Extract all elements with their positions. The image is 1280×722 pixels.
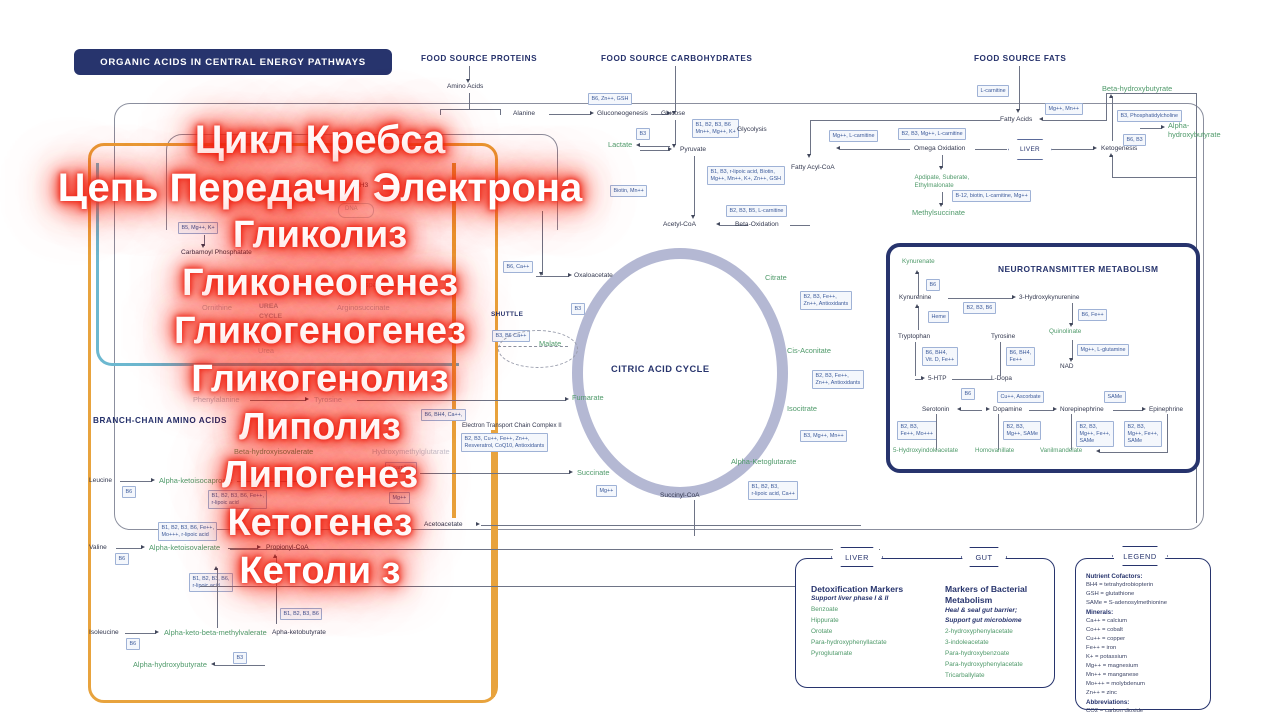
line-hk-quin bbox=[1072, 303, 1073, 325]
node-fatty-acids: Fatty Acids bbox=[1000, 116, 1032, 123]
line-fa-up bbox=[1106, 93, 1107, 121]
cofactor-5htp-b6: B6 bbox=[961, 388, 975, 400]
arrow-to-succinate bbox=[569, 470, 573, 474]
arrow-quin-nad bbox=[1069, 358, 1073, 362]
legend-group-1-header: Minerals: bbox=[1086, 609, 1113, 616]
line-norepi-epi bbox=[1113, 410, 1143, 411]
node-alpha-hydroxybutyrate-bcaa: Alpha-hydroxybutyrate bbox=[133, 661, 207, 669]
node-valine: Valine bbox=[89, 544, 107, 551]
node-ornithine: Ornithine bbox=[202, 304, 232, 312]
arrow-norepi-epi bbox=[1142, 407, 1146, 411]
cofactor-ketobutyrate: B1, B2, B3, B6 bbox=[280, 608, 322, 620]
line-serotonin-down bbox=[936, 414, 937, 450]
legend-g1-item-5: Mg++ = magnesium bbox=[1086, 663, 1138, 669]
node-epinephrine: Epinephrine bbox=[1149, 406, 1183, 413]
cofactor-quin-nad: Mg++, L-glutamine bbox=[1077, 344, 1129, 356]
line-tyr-ldopa bbox=[1000, 342, 1001, 376]
bacterial-item-2: Para-hydroxybenzoate bbox=[945, 650, 1009, 657]
cofactor-iso-product: B1, B2, B3, B6, r-lipoic acid bbox=[189, 573, 233, 592]
cofactor-kyn-hk: B2, B3, B6 bbox=[963, 302, 996, 314]
node-leucine: Leucine bbox=[89, 477, 112, 484]
legend-g1-item-6: Mn++ = manganese bbox=[1086, 672, 1139, 678]
node-urea: Urea bbox=[258, 347, 274, 355]
arrow-isoleucine bbox=[155, 630, 159, 634]
arrow-line-proteins bbox=[469, 66, 470, 80]
cofactor-pyruvate: B1, B3, r-lipoic acid, Biotin, Mg++, Mn+… bbox=[707, 166, 785, 185]
arrow-carbamoyl-down bbox=[201, 244, 205, 248]
label-urea-cycle-1: UREA bbox=[259, 303, 278, 310]
cofactor-epi-down: B2, B3, Mg++, Fe++, SAMe bbox=[1124, 421, 1162, 447]
arrow-kyn-hk bbox=[1012, 295, 1016, 299]
node-nh3: NH3 bbox=[355, 182, 368, 189]
detox-item-4: Pyroglutamate bbox=[811, 650, 852, 657]
arrow-leucine bbox=[151, 478, 155, 482]
line-acetoacetate-right bbox=[481, 525, 861, 526]
node-carbamoyl-phosphate: Carbamoyl Phosphatate bbox=[181, 249, 252, 256]
node-alanine: Alanine bbox=[513, 110, 535, 117]
legend-g0-item-1: GSH = glutathione bbox=[1086, 591, 1134, 597]
detox-item-2: Orotate bbox=[811, 628, 832, 635]
line-pyr-acetylcoa bbox=[694, 156, 695, 216]
cofactor-serotonin-down: B2, B3, Fe++, Mo+++ bbox=[897, 421, 937, 440]
node-alpha-keto-beta-methylvalerate: Alpha-keto-beta-methylvalerate bbox=[164, 629, 267, 637]
node-adipate-suberate: Apdipate, Suberate, Ethylmalonate bbox=[912, 172, 972, 191]
legend-g1-item-4: K+ = potassium bbox=[1086, 654, 1127, 660]
line-phe-tyr bbox=[250, 400, 306, 401]
header-food-source-proteins: FOOD SOURCE PROTEINS bbox=[421, 55, 537, 64]
node-isoleucine: Isoleucine bbox=[89, 629, 119, 636]
arrow-epi-vanil bbox=[1096, 449, 1100, 453]
line-aa-right bbox=[500, 109, 501, 115]
node-nad: NAD bbox=[1060, 363, 1074, 370]
arrow-line-fats bbox=[1019, 66, 1020, 110]
line-iso-up bbox=[217, 568, 218, 628]
cofactor-dopamine-down: B2, B3, Mg++, SAMe bbox=[1003, 421, 1041, 440]
cofactor-biotin: Biotin, Mn++ bbox=[610, 185, 647, 197]
bacterial-title-2: Metabolism bbox=[945, 595, 992, 605]
line-hydroxybutyrate bbox=[215, 665, 265, 666]
node-quinolinate: Quinolinate bbox=[1049, 329, 1081, 336]
node-amino-acids: Amino Acids bbox=[447, 83, 483, 90]
arrow-lactate bbox=[636, 143, 640, 147]
cofactor-same: SAMe bbox=[1104, 391, 1126, 403]
node-serotonin: Serotonin bbox=[922, 406, 949, 413]
arrow-keto-from-below bbox=[1109, 153, 1113, 157]
line-aa-down bbox=[469, 93, 470, 109]
arrow-kyn-kynurenate bbox=[915, 270, 919, 274]
bacterial-item-0: 2-hydroxyphenylacetate bbox=[945, 628, 1013, 635]
line-aa-left bbox=[440, 109, 441, 115]
arrow-omega-left bbox=[836, 146, 840, 150]
node-oxaloacetate: Oxaloacetate bbox=[574, 272, 613, 279]
cofactor-norepi-down: B2, B3, Mg++, Fe++, SAMe bbox=[1076, 421, 1114, 447]
bacterial-item-1: 3-indoleacetate bbox=[945, 639, 989, 646]
node-citrate: Citrate bbox=[765, 274, 787, 282]
arrow-valine bbox=[141, 545, 145, 549]
cofactor-oaa-in: B6, Ca++ bbox=[503, 261, 533, 273]
detox-item-0: Benzoate bbox=[811, 606, 838, 613]
bacterial-subtitle-1: Heal & seal gut barrier; bbox=[945, 607, 1017, 614]
node-kynurenine: Kynurenine bbox=[899, 294, 931, 301]
line-alanine-gng bbox=[549, 114, 591, 115]
line-keto-bottom bbox=[1112, 177, 1196, 178]
node-asparagine: Asparagine bbox=[360, 281, 397, 289]
line-to-serotonin bbox=[960, 410, 982, 411]
line-dopamine-down bbox=[998, 414, 999, 450]
arrow-acetoacetate bbox=[476, 522, 480, 526]
page-title: ORGANIC ACIDS IN CENTRAL ENERGY PATHWAYS bbox=[74, 49, 392, 75]
cofactor-omega: B2, B3, Mg++, L-carnitine bbox=[898, 128, 966, 140]
line-kyn-kynurenate bbox=[918, 272, 919, 296]
arrow-keto-ahb bbox=[1161, 125, 1165, 129]
legend-g1-item-1: Co++ = cobalt bbox=[1086, 627, 1123, 633]
line-bottom-long bbox=[230, 549, 880, 550]
node-ketogenesis: Ketogenesis bbox=[1101, 145, 1137, 152]
legend-g1-item-2: Cu++ = copper bbox=[1086, 636, 1125, 642]
node-tryptophan: Tryptophan bbox=[898, 333, 930, 340]
line-ketobutyrate-up bbox=[276, 556, 277, 624]
arrow-head-fats bbox=[1016, 109, 1020, 113]
node-acetoacetate: Acetoacetate bbox=[424, 521, 463, 528]
line-fa-top bbox=[1106, 93, 1196, 94]
line-ketoisocaproate bbox=[237, 481, 315, 482]
gut-tab-label-2: GUT bbox=[975, 553, 992, 562]
line-dop-norepi bbox=[1029, 410, 1054, 411]
node-tyrosine: Tyrosine bbox=[314, 396, 342, 404]
node-5-htp: 5-HTP bbox=[928, 375, 946, 382]
node-dopamine: Dopamine bbox=[993, 406, 1022, 413]
cofactor-valine-product: B1, B2, B3, B6, Fe++, Mo+++, r-lipoic ac… bbox=[158, 522, 217, 541]
line-leucine bbox=[120, 481, 152, 482]
node-5-hydroxyindoleacetate: 5-Hydroxyindoleacetate bbox=[893, 448, 958, 455]
node-phenylalanine: Phenylalanine bbox=[193, 396, 239, 404]
cofactor-kynurenate: B6 bbox=[926, 279, 940, 291]
line-glucose-pyruvate bbox=[675, 120, 676, 145]
bacterial-item-3: Para-hydroxyphenylacetate bbox=[945, 661, 1023, 668]
diagram-canvas: ORGANIC ACIDS IN CENTRAL ENERGY PATHWAYS… bbox=[0, 0, 1280, 722]
line-bottom-long-2 bbox=[200, 586, 890, 587]
arrow-dop-norepi bbox=[1053, 407, 1057, 411]
line-to-oaa bbox=[536, 276, 569, 277]
arrow-keto-bhb bbox=[1109, 94, 1113, 98]
node-methylsuccinate: Methylsuccinate bbox=[912, 209, 965, 217]
cofactor-hk-quin: B6, Fe++ bbox=[1078, 309, 1107, 321]
node-fumarate: Fumarate bbox=[572, 394, 604, 402]
cofactor-etc: B2, B3, Cu++, Fe++, Zn++, Resveratrol, C… bbox=[461, 433, 548, 452]
line-kyn-hk bbox=[948, 298, 1013, 299]
line-quin-nad bbox=[1072, 340, 1073, 360]
cofactor-isoleucine: B6 bbox=[126, 638, 140, 650]
bacterial-item-4: Tricarballylate bbox=[945, 672, 985, 679]
node-alpha-ketoglutarate: Alpha-Ketoglutarate bbox=[731, 458, 796, 466]
arrow-to-dopamine bbox=[986, 407, 990, 411]
cofactor-iso-akg: B3, Mg++, Mn++ bbox=[800, 430, 847, 442]
cofactor-glycolysis: B1, B2, B3, B6 Mn++, Mg++, K+ bbox=[692, 119, 739, 138]
line-to-succinate bbox=[420, 473, 570, 474]
node-omega-oxidation: Omega Oxidation bbox=[914, 145, 965, 152]
cofactor-succoa-succ: Mg++ bbox=[596, 485, 617, 497]
node-alpha-ketobutyrate: Apha-ketobutyrate bbox=[272, 629, 326, 636]
legend-g1-item-0: Ca++ = calcium bbox=[1086, 618, 1127, 624]
arrow-liver-keto bbox=[1093, 146, 1097, 150]
line-norepi-down bbox=[1071, 414, 1072, 450]
node-lactate: Lactate bbox=[608, 141, 632, 149]
line-to-fumarate bbox=[396, 400, 566, 401]
cofactor-tryptophan: B6, BH4, Vit. D, Fe++ bbox=[922, 347, 958, 366]
page-title-text: ORGANIC ACIDS IN CENTRAL ENERGY PATHWAYS bbox=[100, 57, 366, 68]
node-fatty-acyl-coa: Fatty Acyl-CoA bbox=[791, 164, 835, 171]
node-vanilmandelate: Vanilmandelate bbox=[1040, 448, 1082, 455]
cofactor-dopamine-make: Cu++, Ascorbate bbox=[997, 391, 1044, 403]
cofactor-omega-2: Mg++, L-carnitine bbox=[829, 130, 878, 142]
header-food-source-carbohydrates: FOOD SOURCE CARBOHYDRATES bbox=[601, 55, 752, 64]
cofactor-valine: B6 bbox=[115, 553, 129, 565]
node-hydroxymethylglutarate: Hydroxymethylglutarate bbox=[372, 448, 450, 456]
line-omega-liver bbox=[975, 149, 1007, 150]
legend-g0-item-0: BH4 = tetrahydrobiopterin bbox=[1086, 582, 1153, 588]
node-alpha-hydroxybutyrate: Alpha-hydroxybutyrate bbox=[1168, 122, 1221, 140]
liver-hexagon-label: LIVER bbox=[1020, 146, 1040, 153]
cofactor-mg-mn: Mg++, Mn++ bbox=[1045, 103, 1083, 115]
label-shuttle: SHUTTLE bbox=[491, 311, 523, 318]
gut-tab-hexagon-outline: GUT bbox=[961, 547, 1007, 567]
citric-acid-cycle-label: CITRIC ACID CYCLE bbox=[611, 364, 710, 374]
line-keto-from-below bbox=[1112, 155, 1113, 177]
node-l-dopa: L-Dopa bbox=[991, 375, 1012, 382]
arrow-line-carbs bbox=[675, 66, 676, 112]
legend-group-0-header: Nutrient Cofactors: bbox=[1086, 573, 1142, 580]
label-urea-cycle-2: CYCLE bbox=[259, 313, 282, 320]
cofactor-beta-oxidation: B2, B3, B5, L-carnitine bbox=[726, 205, 787, 217]
arrow-adipate-down bbox=[939, 203, 943, 207]
arrow-trp-kyn bbox=[915, 304, 919, 308]
node-kynurenate: Kynurenate bbox=[902, 259, 935, 266]
legend-group-2-header: Abbreviations: bbox=[1086, 699, 1129, 706]
dna-ellipse bbox=[338, 203, 374, 218]
arrow-pyr-acetylcoa bbox=[691, 215, 695, 219]
arrow-hk-quin bbox=[1069, 323, 1073, 327]
node-alpha-ketoisovalerate: Alpha-ketoisovalerate bbox=[149, 544, 220, 552]
node-acetyl-coa: Acetyl-CoA bbox=[663, 221, 696, 228]
detox-subtitle: Support liver phase I & II bbox=[811, 595, 888, 602]
legend-g1-item-7: Mo+++ = molybdenum bbox=[1086, 681, 1145, 687]
detox-item-1: Hippurate bbox=[811, 617, 839, 624]
arrow-iso-up bbox=[214, 566, 218, 570]
legend-panel bbox=[1075, 558, 1211, 710]
node-tyrosine-nt: Tyrosine bbox=[991, 333, 1015, 340]
cofactor-leucine-product: B1, B2, B3, B6, Fe++, r-lipoic acid bbox=[208, 490, 267, 509]
cofactor-malate-oaa: B3 bbox=[571, 303, 585, 315]
orange-vertical-bar-2 bbox=[491, 430, 495, 697]
legend-g2-item-0: CO2 = carbon dioxide bbox=[1086, 708, 1143, 714]
node-glucose: Glucose bbox=[661, 110, 685, 117]
bacterial-title-1: Markers of Bacterial bbox=[945, 584, 1027, 594]
node-3-hydroxykynurenine: 3-Hydroxykynurenine bbox=[1019, 294, 1079, 301]
line-keto-ahb bbox=[1140, 128, 1162, 129]
arrow-fattyacylcoa bbox=[807, 154, 811, 158]
node-pyruvate: Pyruvate bbox=[680, 146, 706, 153]
line-epi-vanil bbox=[1100, 452, 1168, 453]
cofactor-l-carnitine-top: L-carnitine bbox=[977, 85, 1009, 97]
arrow-to-fumarate bbox=[565, 397, 569, 401]
detox-item-3: Para-hydroxyphenyllactate bbox=[811, 639, 887, 646]
arrow-biotin-oaa bbox=[539, 272, 543, 276]
arrow-to-oaa bbox=[568, 273, 572, 277]
cofactor-leucine: B6 bbox=[122, 486, 136, 498]
line-to-fatty-acids bbox=[1043, 120, 1106, 121]
label-etc: Electron Transport Chain Complex II bbox=[462, 422, 562, 429]
arrow-alanine-gng bbox=[590, 111, 594, 115]
header-bcaa: BRANCH-CHAIN AMINO ACIDS bbox=[93, 417, 227, 426]
node-gluconeogenesis: Gluconeogenesis bbox=[597, 110, 648, 117]
node-isocitrate: Isocitrate bbox=[787, 405, 817, 413]
label-glycolysis: Glycolysis bbox=[737, 126, 767, 133]
line-keto-bhb bbox=[1112, 96, 1113, 141]
shuttle-dotted-ellipse bbox=[498, 330, 578, 368]
node-norepinephrine: Norepinephrine bbox=[1060, 406, 1104, 413]
line-htp-ldopa-join bbox=[952, 379, 992, 380]
detox-title: Detoxification Markers bbox=[811, 584, 903, 594]
cofactor-heme: Heme bbox=[928, 311, 949, 323]
legend-g1-item-3: Fe++ = iron bbox=[1086, 645, 1116, 651]
node-beta-hydroxyisovalerate: Beta-hydroxyisovalerate bbox=[234, 448, 313, 456]
cofactor-lactate: B3 bbox=[636, 128, 650, 140]
cofactor-citrate-cis: B2, B3, Fe++, Zn++, Antioxidants bbox=[800, 291, 852, 310]
neurotransmitter-title: NEUROTRANSMITTER METABOLISM bbox=[998, 264, 1158, 274]
line-valine bbox=[116, 548, 142, 549]
arrow-betaox-acetylcoa bbox=[716, 222, 720, 226]
cofactor-tyrosine: B6, BH4, Ca++, bbox=[421, 409, 466, 421]
arrow-glucose-pyruvate bbox=[672, 144, 676, 148]
arrow-pyruvate-left bbox=[668, 147, 672, 151]
arrow-phe-tyr bbox=[305, 397, 309, 401]
line-trp-kyn bbox=[918, 306, 919, 330]
liver-tab-label-2: LIVER bbox=[845, 553, 869, 562]
line-lactate-pyr-2 bbox=[640, 150, 670, 151]
line-omega-left bbox=[840, 149, 910, 150]
bacterial-subtitle-2: Support gut microbiome bbox=[945, 617, 1022, 624]
line-liver-keto bbox=[1052, 149, 1094, 150]
cofactor-methylsuccinate: B-12, biotin, L-carnitine, Mg++ bbox=[952, 190, 1031, 202]
node-succinyl-coa: Succinyl-CoA bbox=[660, 492, 700, 499]
cofactor-tyrosine-nt: B6, BH4, Fe++ bbox=[1006, 347, 1035, 366]
line-lactate-pyr-1 bbox=[640, 146, 670, 147]
line-aa-split bbox=[440, 109, 500, 110]
legend-tab-label-2: LEGEND bbox=[1123, 552, 1156, 561]
node-alpha-ketoisocaproate: Alpha-ketoisocaproate bbox=[159, 477, 233, 485]
line-biotin-oaa bbox=[542, 211, 543, 275]
cofactor-akg-succoa: B1, B2, B3, r-lipoic acid, Ca++ bbox=[748, 481, 798, 500]
line-betaox-right bbox=[790, 225, 810, 226]
cofactor-cis-iso: B2, B3, Fe++, Zn++, Antioxidants bbox=[812, 370, 864, 389]
node-succinate: Succinate bbox=[577, 469, 609, 477]
line-trp-5htp bbox=[915, 342, 916, 376]
node-cis-aconitate: Cis-Aconitate bbox=[787, 347, 831, 355]
cofactor-lcarnitine-bcaa: L-carnitine bbox=[385, 462, 417, 474]
cofactor-alanine: B6, Zn++, GSH bbox=[588, 93, 632, 105]
line-fattyacylcoa-fa bbox=[810, 120, 1000, 121]
header-food-source-fats: FOOD SOURCE FATS bbox=[974, 55, 1066, 64]
node-beta-hydroxybutyrate: Beta-hydroxybutyrate bbox=[1102, 85, 1172, 93]
arrow-omega-down bbox=[939, 166, 943, 170]
orange-vertical-bar-1 bbox=[452, 163, 456, 518]
arrow-ketobutyrate-up bbox=[273, 554, 277, 558]
arrow-hydroxybutyrate bbox=[211, 662, 215, 666]
node-homovanillate: Homovanillate bbox=[975, 448, 1014, 455]
node-argininosuccinate: Arginosuccinate bbox=[337, 304, 390, 312]
cofactor-ahb: B6, B3 bbox=[1123, 134, 1146, 146]
line-5htp-in bbox=[915, 379, 923, 380]
legend-tab-hexagon-outline: LEGEND bbox=[1112, 546, 1168, 566]
node-citrulline: Citrulline bbox=[242, 279, 271, 287]
legend-g0-item-2: SAMe = S-adenosylmethionine bbox=[1086, 600, 1167, 606]
line-succoa-down bbox=[694, 500, 695, 536]
line-epi-down bbox=[1167, 414, 1168, 452]
cofactor-hydroxy-b3: B3 bbox=[233, 652, 247, 664]
cofactor-carbamoyl: B5, Mg++, K+ bbox=[178, 222, 218, 234]
node-beta-oxidation: Beta-Oxidation bbox=[735, 221, 779, 228]
liver-tab-hexagon-outline: LIVER bbox=[831, 547, 883, 567]
line-fa-down-left bbox=[810, 120, 811, 155]
cofactor-mg-bcaa: Mg++ bbox=[389, 492, 410, 504]
line-isoleucine bbox=[125, 633, 156, 634]
legend-g1-item-8: Zn++ = zinc bbox=[1086, 690, 1117, 696]
